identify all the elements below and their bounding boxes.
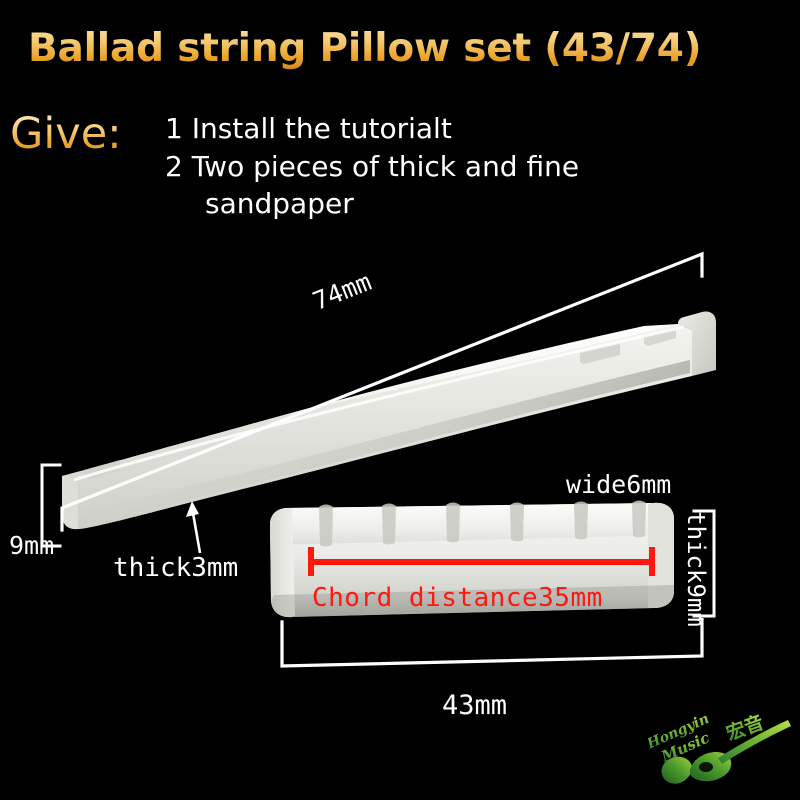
saddle-height-label: 9mm [9,531,54,560]
nut-width-bracket [272,618,712,678]
thickness-arrow-icon [180,495,220,555]
give-list: 1 Install the tutorialt 2 Two pieces of … [165,110,765,223]
saddle-length-bracket [0,240,800,560]
give-item-2: 2 Two pieces of thick and fine [165,148,765,186]
product-image-canvas: Ballad string Pillow set (43/74) Give: 1… [0,0,800,800]
page-title: Ballad string Pillow set (43/74) [28,26,701,71]
give-item-1: 1 Install the tutorialt [165,112,452,145]
nut-slot-width-label: wide6mm [566,470,671,499]
give-label: Give: [10,113,122,156]
saddle-thickness-label: thick3mm [113,553,238,583]
chord-distance-measure [300,543,670,583]
give-item-3: sandpaper [165,185,765,223]
nut-width-label: 43mm [442,690,507,721]
brand-logo: Hongyin Music 宏音 [648,704,794,796]
chord-distance-label: Chord distance35mm [312,583,603,613]
nut-thickness-label: thick9mm [682,509,710,629]
